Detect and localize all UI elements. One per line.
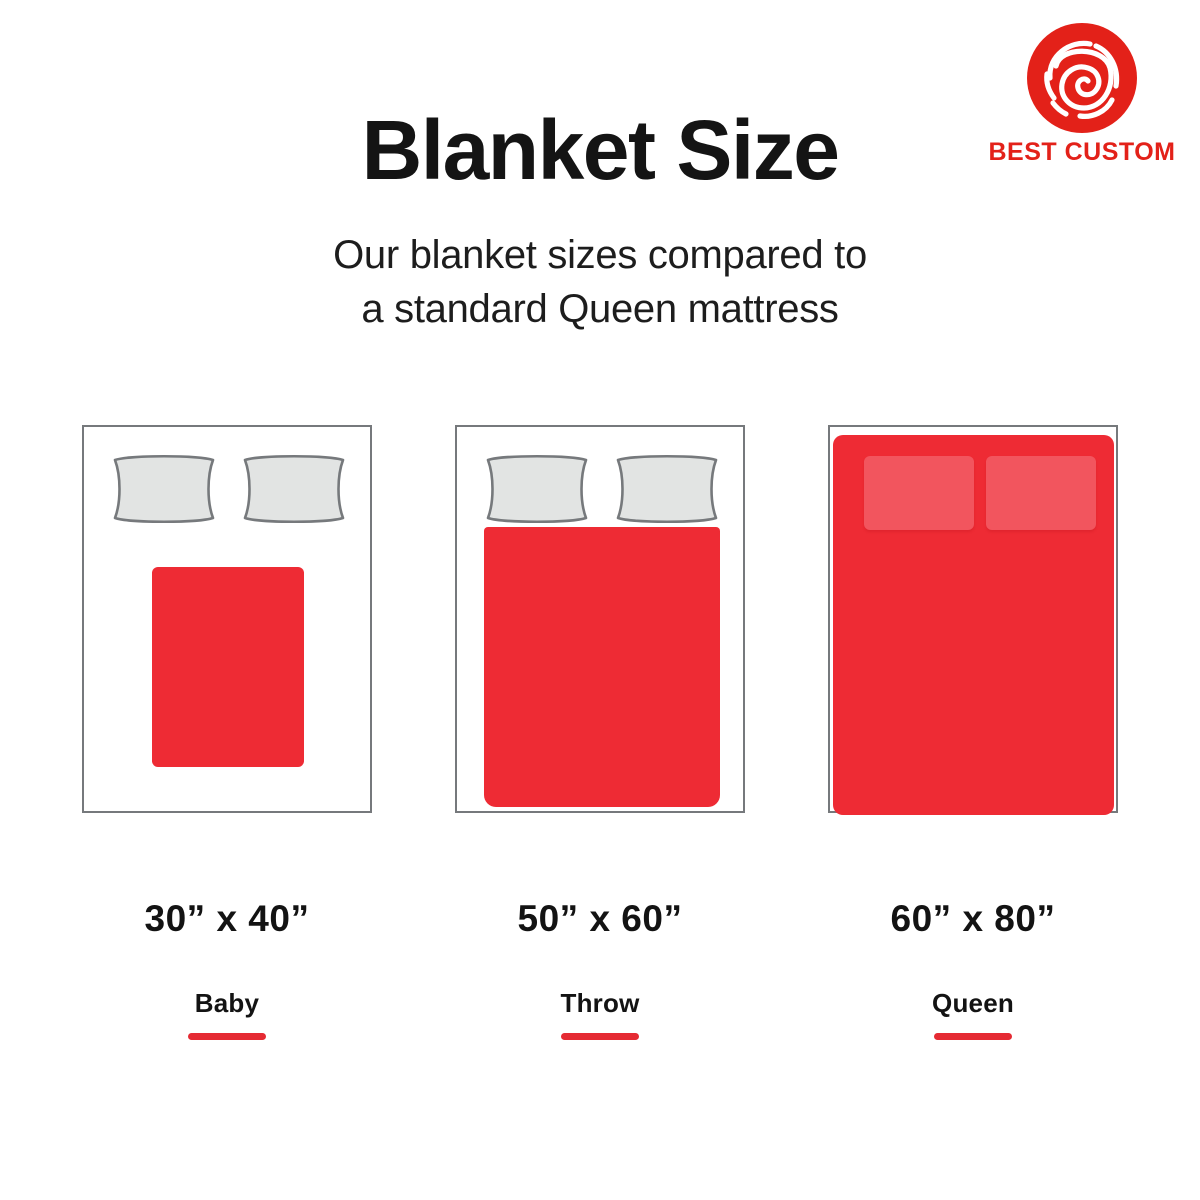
pillow-icon [108,454,220,524]
size-dimensions: 60” x 80” [828,898,1118,940]
pillow-icon [611,454,723,524]
subtitle-line-2: a standard Queen mattress [0,282,1200,336]
size-dimensions: 30” x 40” [82,898,372,940]
pillow-icon [481,454,593,524]
mattress-outline [455,425,745,813]
accent-underline [188,1033,266,1040]
size-label-group: 30” x 40” Baby 50” x 60” Throw 60” x 80”… [0,898,1200,1058]
bed-diagram-baby [82,420,372,820]
size-name: Throw [455,988,745,1019]
bed-comparison-group [0,420,1200,820]
blanket-swatch-queen [833,435,1114,815]
size-name: Baby [82,988,372,1019]
page-title: Blanket Size [0,104,1200,196]
infographic-canvas: BEST CUSTOM Blanket Size Our blanket siz… [0,0,1200,1200]
size-label-throw: 50” x 60” Throw [455,898,745,1040]
bed-diagram-throw [455,420,745,820]
accent-underline [934,1033,1012,1040]
bed-diagram-queen [828,420,1118,820]
size-label-queen: 60” x 80” Queen [828,898,1118,1040]
pillow-icon [864,456,974,530]
pillow-icon [986,456,1096,530]
size-label-baby: 30” x 40” Baby [82,898,372,1040]
size-name: Queen [828,988,1118,1019]
pillow-icon [238,454,350,524]
mattress-outline [828,425,1118,813]
size-dimensions: 50” x 60” [455,898,745,940]
accent-underline [561,1033,639,1040]
blanket-swatch-baby [152,567,304,767]
page-subtitle: Our blanket sizes compared to a standard… [0,228,1200,336]
mattress-outline [82,425,372,813]
blanket-swatch-throw [484,527,720,807]
subtitle-line-1: Our blanket sizes compared to [0,228,1200,282]
